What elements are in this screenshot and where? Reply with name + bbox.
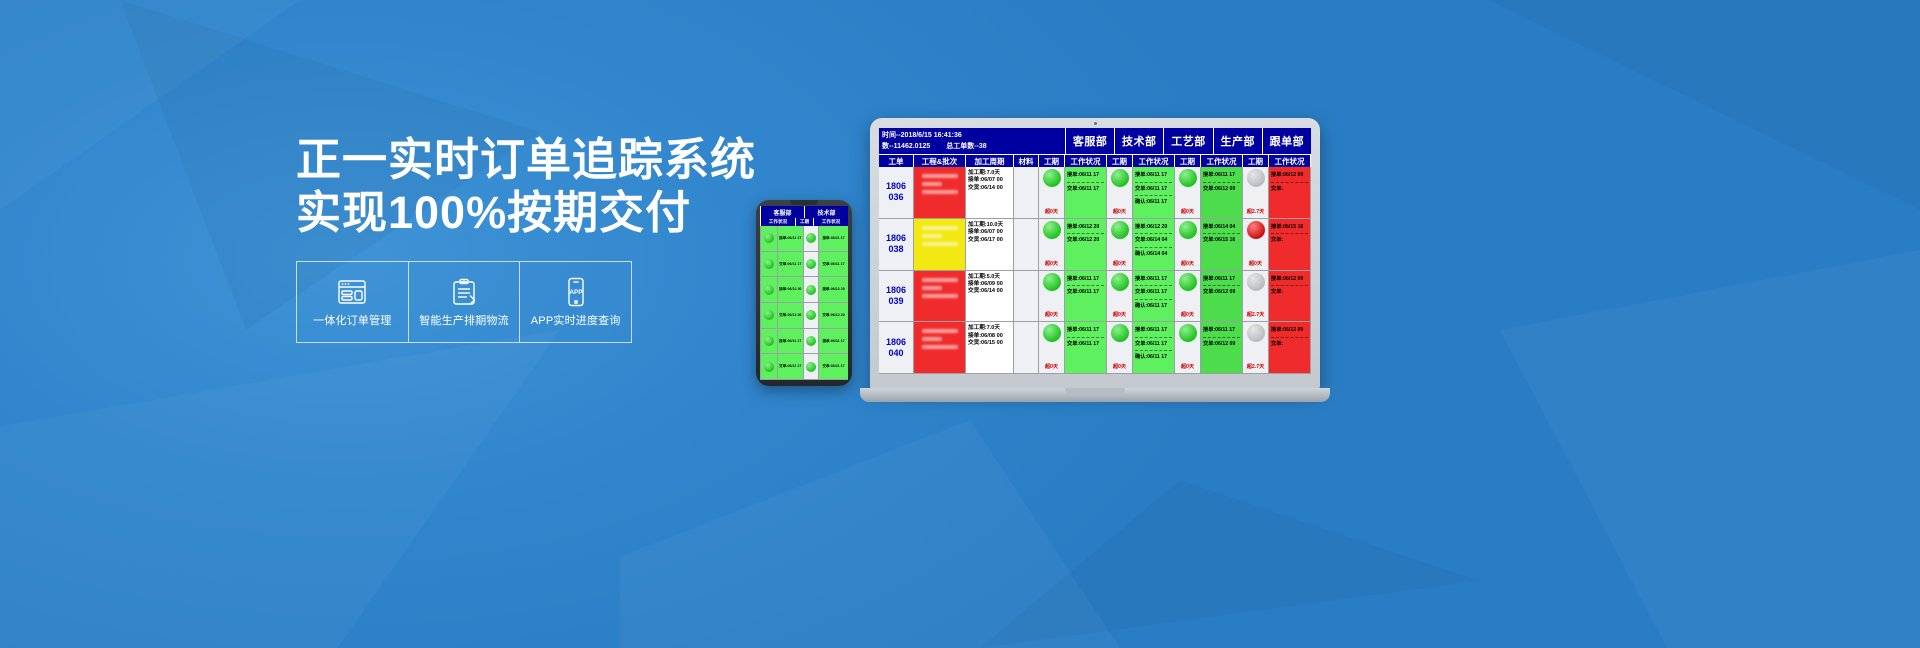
status-dot-green	[1179, 273, 1197, 291]
status-line: 交单:06/11 17	[1135, 340, 1172, 349]
redacted-text	[922, 286, 942, 290]
phone-info-cell[interactable]: 接单:06/11 17	[819, 329, 848, 355]
phone-dashboard-body: 接单:06/11 17 交单:06/11 17 接单:06/12 20 交单:0…	[760, 226, 848, 380]
work-status-cell-客服部[interactable]: 接单:06/11 17交单:06/11 17	[1064, 167, 1106, 218]
status-line: 接单:06/11 17	[1135, 275, 1172, 284]
phone-duration-cell[interactable]	[804, 329, 818, 355]
meta-amount: 数--11462.0125	[882, 143, 930, 150]
dept-header-customer-service[interactable]: 客服部	[1065, 128, 1114, 154]
status-line: 交单:06/11 17	[1135, 185, 1172, 194]
col-header-status[interactable]: 工作状况	[1064, 154, 1106, 167]
redacted-text	[922, 242, 958, 246]
status-line: 接单:06/15 16	[1271, 223, 1308, 232]
status-line: 交单:06/12 09	[1203, 288, 1240, 297]
order-number-suffix: 038	[888, 244, 903, 255]
work-status-cell-生产部[interactable]: 接单:06/15 16交单:	[1268, 219, 1310, 270]
status-divider	[1203, 285, 1240, 286]
status-dot-green	[1179, 324, 1197, 342]
feature-label: 智能生产排期物流	[419, 312, 509, 328]
duration-cell-技术部[interactable]: 超0天	[1106, 271, 1132, 322]
overdue-tag: 超0天	[1045, 209, 1058, 216]
overdue-tag: 超0天	[1113, 312, 1126, 319]
processing-cycle-cell[interactable]: 加工期:5.0天接单:06/09 00交货:06/14 00	[965, 271, 1013, 322]
cycle-line: 交货:06/14 00	[968, 185, 1011, 192]
redacted-text	[922, 190, 958, 194]
col-header-duration[interactable]: 工期	[1310, 154, 1311, 167]
status-dot-green	[764, 310, 774, 320]
status-divider	[1135, 195, 1172, 196]
overdue-tag: 超2.7天	[1247, 209, 1265, 216]
status-divider	[1271, 233, 1308, 234]
marketing-banner: 正一实时订单追踪系统 实现100%按期交付 一体化订单管理	[0, 0, 1920, 648]
work-status-cell-技术部[interactable]: 接单:06/11 17交单:06/11 17确认:06/11 17	[1132, 322, 1174, 373]
overdue-tag: 超0天	[1113, 364, 1126, 371]
duration-cell-生产部[interactable]: 超2.7天	[1242, 167, 1268, 218]
duration-cell-客服部[interactable]: 超0天	[1038, 271, 1064, 322]
mobile-app-icon: APP	[565, 277, 587, 307]
status-dot-green	[806, 285, 816, 295]
phone-screen: 客服部 技术部 工作状况 工期 工作状况	[760, 206, 848, 380]
status-divider	[1271, 182, 1308, 183]
status-line: 确认:06/11 17	[1135, 198, 1172, 207]
redacted-text	[922, 174, 958, 178]
meta-amount-row: 数--11462.0125 总工单数--38	[882, 141, 1062, 152]
status-dot-green	[1043, 221, 1061, 239]
status-divider	[1135, 350, 1172, 351]
phone-dept-header: 客服部	[760, 206, 804, 218]
status-line: 交单:06/11 17	[1067, 340, 1104, 349]
status-line: 接单:06/12 09	[1271, 171, 1308, 180]
status-dot-green	[1043, 273, 1061, 291]
meta-time: 时间--2018/6/15 16:41:36	[882, 130, 1062, 141]
work-status-cell-技术部[interactable]: 接单:06/11 17交单:06/11 17确认:06/11 17	[1132, 167, 1174, 218]
bg-facet	[1380, 0, 1920, 300]
work-status-cell-客服部[interactable]: 接单:06/11 17交单:06/11 17	[1064, 322, 1106, 373]
project-batch-cell[interactable]	[913, 322, 965, 373]
order-number-prefix: 1806	[886, 181, 906, 192]
status-dot-green	[764, 336, 774, 346]
phone-status-cell[interactable]	[761, 252, 777, 278]
duration-cell-客服部[interactable]: 超0天	[1038, 219, 1064, 270]
status-divider	[1135, 285, 1172, 286]
cycle-line: 交货:06/17 00	[968, 237, 1011, 244]
status-divider	[1271, 285, 1308, 286]
duration-cell-工艺部[interactable]: 超0天	[1174, 219, 1200, 270]
phone-column-header-row: 工作状况 工期 工作状况	[760, 218, 848, 226]
dashboard-rows: 1806036加工期:7.0天接单:06/07 00交货:06/14 00超0天…	[879, 167, 1311, 374]
col-header-status[interactable]: 工作状况	[1200, 154, 1242, 167]
feature-label: APP实时进度查询	[531, 312, 621, 328]
redacted-text	[922, 226, 958, 230]
phone-info-cell[interactable]: 接单:06/12 20	[778, 277, 803, 303]
phone-status-cell[interactable]	[761, 226, 777, 252]
phone-info-cell[interactable]: 交单:06/11 17	[819, 354, 848, 380]
phone-column-header: 工作状况	[760, 218, 795, 226]
status-line: 交单:06/12 09	[1203, 185, 1240, 194]
laptop-screen: 时间--2018/6/15 16:41:36 数--11462.0125 总工单…	[879, 128, 1311, 374]
status-divider	[1135, 233, 1172, 234]
phone-status-cell[interactable]	[761, 329, 777, 355]
status-divider	[1135, 299, 1172, 300]
status-divider	[1067, 233, 1104, 234]
dept-header-production[interactable]: 生产部	[1213, 128, 1262, 154]
duration-cell-跟单部[interactable]: 超0天	[1310, 219, 1311, 270]
processing-cycle-cell[interactable]: 加工期:7.0天接单:06/08 00交货:06/15 00	[965, 322, 1013, 373]
feature-box-group: 一体化订单管理 智能生产排期物流	[296, 261, 632, 343]
dashboard-header: 时间--2018/6/15 16:41:36 数--11462.0125 总工单…	[879, 128, 1311, 154]
status-line: 接单:06/11 17	[1203, 171, 1240, 180]
duration-cell-生产部[interactable]: 超2.7天	[1242, 271, 1268, 322]
order-number-cell[interactable]: 1806038	[879, 219, 913, 270]
duration-cell-生产部[interactable]: 超2.7天	[1242, 322, 1268, 373]
status-divider	[1203, 233, 1240, 234]
svg-text:APP: APP	[569, 289, 583, 296]
cycle-line: 接单:06/07 00	[968, 229, 1011, 236]
material-cell[interactable]	[1013, 167, 1038, 218]
work-status-cell-工艺部[interactable]: 接单:06/14 04交单:06/15 16	[1200, 219, 1242, 270]
material-cell[interactable]	[1013, 322, 1038, 373]
status-dot-green	[1179, 221, 1197, 239]
overdue-tag: 超2.7天	[1247, 312, 1265, 319]
status-line: 交单:06/11 17	[1067, 185, 1104, 194]
overdue-tag: 超0天	[1045, 261, 1058, 268]
order-number-prefix: 1806	[886, 337, 906, 348]
order-number-cell[interactable]: 1806040	[879, 322, 913, 373]
redacted-text	[922, 329, 958, 333]
dashboard-layout-icon	[337, 277, 367, 307]
status-divider	[1135, 337, 1172, 338]
phone-column-header: 工期	[795, 218, 813, 226]
processing-cycle-cell[interactable]: 加工期:7.0天接单:06/07 00交货:06/14 00	[965, 167, 1013, 218]
work-status-cell-生产部[interactable]: 接单:06/12 09交单:	[1268, 271, 1310, 322]
status-dot-green	[764, 362, 774, 372]
laptop-device: 时间--2018/6/15 16:41:36 数--11462.0125 总工单…	[860, 118, 1330, 418]
status-dot-green	[1043, 169, 1061, 187]
status-line: 确认:06/11 17	[1135, 302, 1172, 311]
status-dot-green	[1111, 221, 1129, 239]
status-dot-green	[806, 259, 816, 269]
cycle-line: 加工期:7.0天	[968, 325, 1011, 332]
headline-line-1: 正一实时订单追踪系统	[296, 133, 816, 186]
col-header-duration[interactable]: 工期	[1242, 154, 1268, 167]
smartphone-device: 客服部 技术部 工作状况 工期 工作状况	[756, 200, 852, 386]
status-divider	[1135, 182, 1172, 183]
project-batch-cell[interactable]	[913, 219, 965, 270]
dept-header-technology[interactable]: 技术部	[1114, 128, 1163, 154]
order-number-prefix: 1806	[886, 233, 906, 244]
overdue-tag: 超2.7天	[1247, 364, 1265, 371]
phone-status-column[interactable]	[760, 226, 777, 380]
cycle-line: 交货:06/14 00	[968, 288, 1011, 295]
redacted-text	[922, 294, 958, 298]
phone-duration-cell[interactable]	[804, 303, 818, 329]
bg-facet	[1500, 250, 1920, 648]
processing-cycle-cell[interactable]: 加工期:10.0天接单:06/07 00交货:06/17 00	[965, 219, 1013, 270]
status-dot-green	[764, 233, 774, 243]
redacted-text	[922, 234, 942, 238]
phone-column-header: 工作状况	[813, 218, 848, 226]
col-header-duration[interactable]: 工期	[1174, 154, 1200, 167]
feature-app-progress-query[interactable]: APP APP实时进度查询	[520, 262, 631, 342]
work-status-cell-技术部[interactable]: 接单:06/12 20交单:06/14 04确认:06/14 04	[1132, 219, 1174, 270]
status-dot-green	[806, 336, 816, 346]
status-line: 接单:06/11 17	[1135, 326, 1172, 335]
table-row[interactable]: 1806036加工期:7.0天接单:06/07 00交货:06/14 00超0天…	[879, 167, 1311, 219]
duration-cell-跟单部[interactable]: 超1.7天	[1310, 271, 1311, 322]
col-header-cycle[interactable]: 加工周期	[965, 154, 1013, 167]
phone-info-cell[interactable]: 接单:06/12 20	[819, 277, 848, 303]
status-dot-green	[1179, 169, 1197, 187]
overdue-tag: 超0天	[1045, 364, 1058, 371]
status-dot-green	[806, 310, 816, 320]
status-line: 交单:	[1271, 185, 1308, 194]
phone-body: 客服部 技术部 工作状况 工期 工作状况	[756, 200, 852, 386]
status-line: 接单:06/12 20	[1135, 223, 1172, 232]
overdue-tag: 超0天	[1113, 261, 1126, 268]
status-line: 接单:06/11 17	[1203, 275, 1240, 284]
webcam-icon	[1094, 122, 1097, 125]
status-dot-green	[1111, 324, 1129, 342]
status-dot-grey	[1247, 169, 1265, 187]
status-dot-green	[764, 285, 774, 295]
status-dot-red	[1247, 221, 1265, 239]
status-line: 确认:06/11 17	[1135, 353, 1172, 362]
phone-duration-column[interactable]	[803, 226, 818, 380]
status-line: 交单:06/14 04	[1135, 236, 1172, 245]
phone-info-column[interactable]: 接单:06/11 17 交单:06/11 17 接单:06/12 20 交单:0…	[777, 226, 803, 380]
phone-dashboard: 客服部 技术部 工作状况 工期 工作状况	[760, 206, 848, 380]
status-line: 交单:06/11 17	[1135, 288, 1172, 297]
status-divider	[1203, 182, 1240, 183]
overdue-tag: 超0天	[1181, 364, 1194, 371]
status-line: 交单:06/12 20	[1067, 236, 1104, 245]
status-line: 接单:06/11 17	[1067, 171, 1104, 180]
phone-info-cell[interactable]: 接单:06/11 17	[778, 226, 803, 252]
phone-dept-header-row: 客服部 技术部	[760, 206, 848, 218]
status-dot-green	[806, 233, 816, 243]
order-tracking-dashboard: 时间--2018/6/15 16:41:36 数--11462.0125 总工单…	[879, 128, 1311, 374]
phone-duration-cell[interactable]	[804, 354, 818, 380]
redacted-text	[922, 182, 942, 186]
status-line: 交单:06/15 16	[1203, 236, 1240, 245]
status-line: 交单:06/12 09	[1203, 340, 1240, 349]
phone-status-cell[interactable]	[761, 354, 777, 380]
phone-info-cell[interactable]: 交单:06/12 20	[778, 303, 803, 329]
duration-cell-客服部[interactable]: 超0天	[1038, 322, 1064, 373]
dept-header-followup[interactable]: 跟单部	[1262, 128, 1311, 154]
duration-cell-跟单部[interactable]: 超1.7天	[1310, 322, 1311, 373]
work-status-cell-生产部[interactable]: 接单:06/12 09交单:	[1268, 322, 1310, 373]
status-dot-green	[1111, 273, 1129, 291]
phone-info-cell[interactable]: 交单:06/11 17	[778, 252, 803, 278]
cycle-line: 接单:06/07 00	[968, 177, 1011, 184]
dashboard-meta: 时间--2018/6/15 16:41:36 数--11462.0125 总工单…	[879, 128, 1065, 154]
duration-cell-工艺部[interactable]: 超0天	[1174, 271, 1200, 322]
dept-header-process[interactable]: 工艺部	[1163, 128, 1212, 154]
laptop-base-notch	[1065, 388, 1125, 394]
duration-cell-客服部[interactable]: 超0天	[1038, 167, 1064, 218]
duration-cell-技术部[interactable]: 超0天	[1106, 219, 1132, 270]
bg-facet	[0, 330, 560, 648]
duration-cell-生产部[interactable]: 超0天	[1242, 219, 1268, 270]
duration-cell-跟单部[interactable]: 超1.7天	[1310, 167, 1311, 218]
phone-dept-header: 技术部	[804, 206, 848, 218]
order-number-suffix: 036	[888, 192, 903, 203]
status-line: 接单:06/12 09	[1271, 326, 1308, 335]
status-divider	[1203, 337, 1240, 338]
status-line: 交单:	[1271, 236, 1308, 245]
status-line: 接单:06/11 17	[1067, 275, 1104, 284]
table-row[interactable]: 1806039加工期:5.0天接单:06/09 00交货:06/14 00超0天…	[879, 271, 1311, 323]
col-header-project[interactable]: 工程&批次	[913, 154, 965, 167]
phone-notch	[790, 200, 818, 205]
work-status-cell-工艺部[interactable]: 接单:06/11 17交单:06/12 09	[1200, 167, 1242, 218]
feature-production-scheduling[interactable]: 智能生产排期物流	[409, 262, 521, 342]
headline-line-2: 实现100%按期交付	[296, 186, 816, 239]
order-number-suffix: 039	[888, 296, 903, 307]
work-status-cell-客服部[interactable]: 接单:06/12 20交单:06/12 20	[1064, 219, 1106, 270]
phone-info-cell[interactable]: 交单:06/11 17	[819, 252, 848, 278]
status-divider	[1067, 182, 1104, 183]
laptop-lid: 时间--2018/6/15 16:41:36 数--11462.0125 总工单…	[870, 118, 1320, 390]
col-header-order[interactable]: 工单	[879, 154, 913, 167]
clipboard-schedule-icon	[451, 277, 477, 307]
material-cell[interactable]	[1013, 219, 1038, 270]
status-line: 确认:06/14 04	[1135, 250, 1172, 259]
meta-total-orders: 总工单数--38	[946, 143, 986, 150]
feature-label: 一体化订单管理	[313, 312, 391, 328]
duration-cell-技术部[interactable]: 超0天	[1106, 167, 1132, 218]
status-line: 接单:06/12 09	[1271, 275, 1308, 284]
status-divider	[1271, 337, 1308, 338]
status-dot-green	[1043, 324, 1061, 342]
status-divider	[1067, 285, 1104, 286]
work-status-cell-工艺部[interactable]: 接单:06/11 17交单:06/12 09	[1200, 271, 1242, 322]
order-number-cell[interactable]: 1806039	[879, 271, 913, 322]
overdue-tag: 超0天	[1113, 209, 1126, 216]
project-batch-cell[interactable]	[913, 167, 965, 218]
status-line: 接单:06/11 17	[1135, 171, 1172, 180]
status-line: 接单:06/14 04	[1203, 223, 1240, 232]
redacted-text	[922, 337, 942, 341]
status-line: 接单:06/11 17	[1203, 326, 1240, 335]
status-line: 接单:06/11 17	[1067, 326, 1104, 335]
status-dot-green	[1111, 169, 1129, 187]
phone-status-cell[interactable]	[761, 277, 777, 303]
cycle-line: 接单:06/08 00	[968, 333, 1011, 340]
status-line: 接单:06/12 20	[1067, 223, 1104, 232]
phone-status2-column[interactable]: 接单:06/11 17 交单:06/11 17 接单:06/12 20 交单:0…	[818, 226, 848, 380]
overdue-tag: 超0天	[1045, 312, 1058, 319]
overdue-tag: 超0天	[1181, 312, 1194, 319]
phone-duration-cell[interactable]	[804, 252, 818, 278]
cycle-line: 加工期:5.0天	[968, 274, 1011, 281]
status-divider	[1067, 337, 1104, 338]
col-header-status[interactable]: 工作状况	[1268, 154, 1310, 167]
col-header-duration[interactable]: 工期	[1106, 154, 1132, 167]
phone-info-cell[interactable]: 接单:06/11 17	[778, 329, 803, 355]
phone-duration-cell[interactable]	[804, 277, 818, 303]
table-row[interactable]: 1806040加工期:7.0天接单:06/08 00交货:06/15 00超0天…	[879, 322, 1311, 374]
material-cell[interactable]	[1013, 271, 1038, 322]
status-line: 交单:	[1271, 340, 1308, 349]
redacted-text	[922, 345, 958, 349]
status-dot-grey	[1247, 324, 1265, 342]
overdue-tag: 超0天	[1181, 261, 1194, 268]
work-status-cell-生产部[interactable]: 接单:06/12 09交单:	[1268, 167, 1310, 218]
feature-order-management[interactable]: 一体化订单管理	[297, 262, 409, 342]
order-number-prefix: 1806	[886, 285, 906, 296]
redacted-text	[922, 278, 958, 282]
work-status-cell-客服部[interactable]: 接单:06/11 17交单:06/11 17	[1064, 271, 1106, 322]
status-line: 交单:06/11 17	[1067, 288, 1104, 297]
table-row[interactable]: 1806038加工期:10.0天接单:06/07 00交货:06/17 00超0…	[879, 219, 1311, 271]
overdue-tag: 超0天	[1181, 209, 1194, 216]
duration-cell-技术部[interactable]: 超0天	[1106, 322, 1132, 373]
work-status-cell-工艺部[interactable]: 接单:06/11 17交单:06/12 09	[1200, 322, 1242, 373]
hero-copy: 正一实时订单追踪系统 实现100%按期交付 一体化订单管理	[296, 133, 816, 343]
order-number-suffix: 040	[888, 348, 903, 359]
status-dot-green	[806, 362, 816, 372]
cycle-line: 交货:06/15 00	[968, 340, 1011, 347]
phone-info-cell[interactable]: 交单:06/11 17	[778, 354, 803, 380]
status-dot-grey	[1247, 273, 1265, 291]
phone-status-cell[interactable]	[761, 303, 777, 329]
col-header-material[interactable]: 材料	[1013, 154, 1038, 167]
order-number-cell[interactable]: 1806036	[879, 167, 913, 218]
col-header-duration[interactable]: 工期	[1038, 154, 1064, 167]
status-dot-green	[764, 259, 774, 269]
status-line: 交单:	[1271, 288, 1308, 297]
overdue-tag: 超0天	[1249, 261, 1262, 268]
phone-info-cell[interactable]: 接单:06/11 17	[819, 226, 848, 252]
project-batch-cell[interactable]	[913, 271, 965, 322]
phone-duration-cell[interactable]	[804, 226, 818, 252]
work-status-cell-技术部[interactable]: 接单:06/11 17交单:06/11 17确认:06/11 17	[1132, 271, 1174, 322]
phone-info-cell[interactable]: 交单:06/12 20	[819, 303, 848, 329]
col-header-status[interactable]: 工作状况	[1132, 154, 1174, 167]
status-divider	[1135, 247, 1172, 248]
dashboard-column-headers: 工单 工程&批次 加工周期 材料 工期 工作状况 工期 工作状况 工期 工作状况…	[879, 154, 1311, 167]
duration-cell-工艺部[interactable]: 超0天	[1174, 322, 1200, 373]
duration-cell-工艺部[interactable]: 超0天	[1174, 167, 1200, 218]
